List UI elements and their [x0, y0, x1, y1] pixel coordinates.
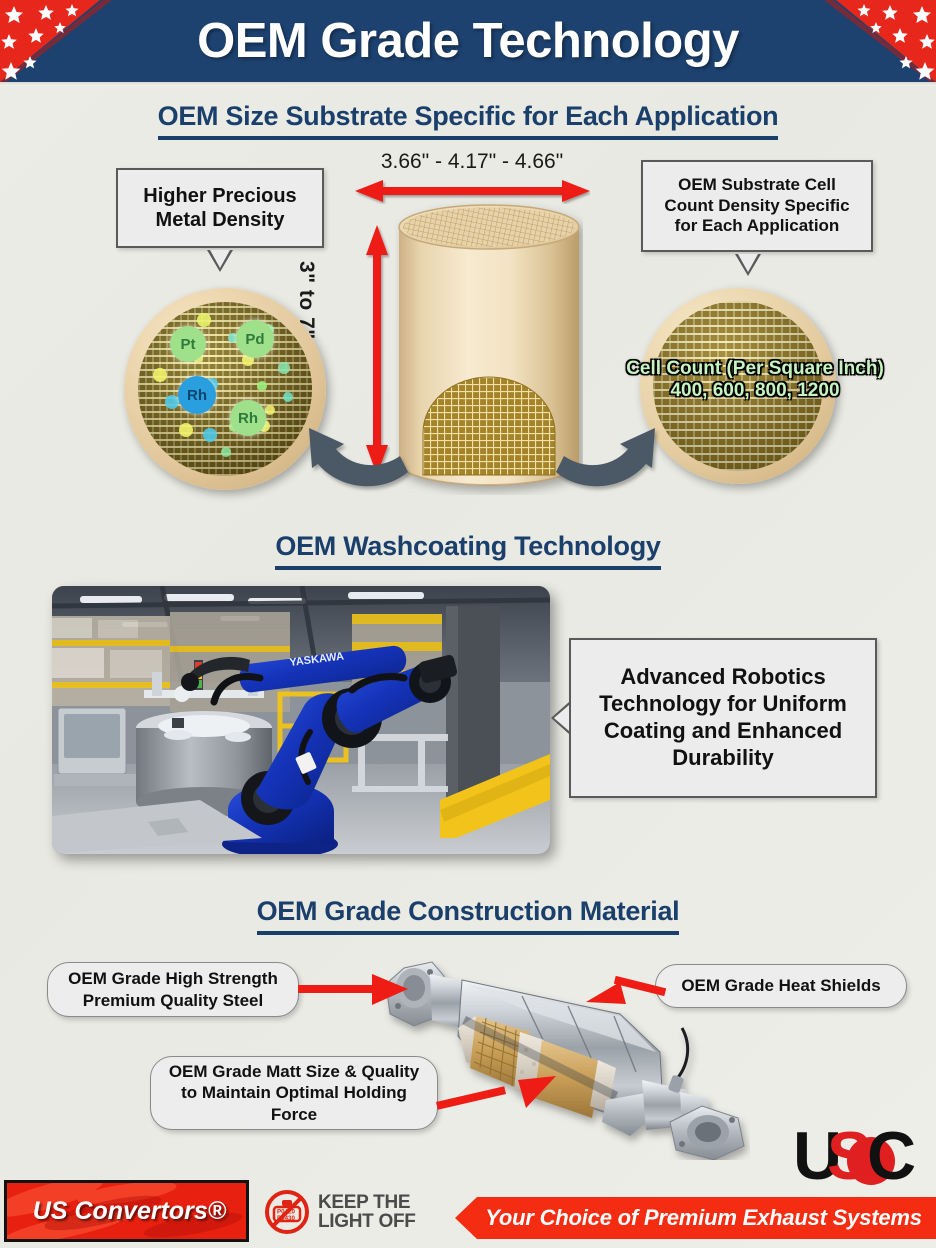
- callout-heat-shields: OEM Grade Heat Shields: [655, 964, 907, 1008]
- header-banner: OEM Grade Technology: [0, 0, 936, 82]
- section-heading-construction: OEM Grade Construction Material: [0, 896, 936, 935]
- washcoating-robot-photo: YASKAWA: [52, 586, 550, 854]
- infographic-page: OEM Grade Technology OEM Size Substrate …: [0, 0, 936, 1248]
- substrate-diameter-label: 3.66" - 4.17" - 4.66": [352, 150, 592, 174]
- logo-letter-c: C: [867, 1118, 916, 1191]
- no-check-engine-light-icon: P0420 P0430: [264, 1189, 310, 1235]
- cell-count-callout: Cell Count (Per Square Inch) 400, 600, 8…: [605, 358, 905, 402]
- keep-light-line-1: KEEP THE: [318, 1193, 416, 1212]
- tagline-text: Your Choice of Premium Exhaust Systems: [485, 1205, 922, 1231]
- callout-tail-right: [735, 254, 761, 276]
- banner-underline: [0, 82, 936, 86]
- precious-metal-rh-blue: Rh: [178, 376, 216, 414]
- callout-matt-size: OEM Grade Matt Size & Quality to Maintai…: [150, 1056, 438, 1130]
- arrow-to-matt: [436, 1066, 556, 1112]
- callout-substrate-cell-count-density: OEM Substrate Cell Count Density Specifi…: [641, 160, 873, 252]
- cell-count-values: 400, 600, 800, 1200: [605, 380, 905, 402]
- keep-light-line-2: LIGHT OFF: [318, 1212, 416, 1231]
- arrow-to-heat-shields: [586, 968, 666, 1008]
- us-convertors-wordmark: US Convertors®: [7, 1183, 249, 1239]
- section-heading-substrate: OEM Size Substrate Specific for Each App…: [0, 101, 936, 140]
- tagline-ribbon: Your Choice of Premium Exhaust Systems: [455, 1197, 936, 1239]
- section-heading-washcoating-text: OEM Washcoating Technology: [275, 531, 660, 570]
- logo-letter-s: S: [827, 1118, 872, 1191]
- curved-arrow-right: [552, 398, 682, 498]
- section-heading-construction-text: OEM Grade Construction Material: [257, 896, 680, 935]
- callout-advanced-robotics: Advanced Robotics Technology for Uniform…: [569, 638, 877, 798]
- page-title: OEM Grade Technology: [0, 0, 936, 82]
- us-convertors-logo: US Convertors®: [4, 1180, 249, 1242]
- section-heading-substrate-text: OEM Size Substrate Specific for Each App…: [158, 101, 779, 140]
- keep-the-light-off-badge: P0420 P0430 KEEP THE LIGHT OFF: [264, 1186, 434, 1238]
- usc-logo: U S C: [793, 1113, 919, 1191]
- precious-metal-rh-green: Rh: [230, 400, 266, 436]
- precious-metal-pd: Pd: [236, 320, 274, 358]
- callout-tail-left: [207, 250, 233, 272]
- precious-metal-pt: Pt: [170, 326, 206, 362]
- callout-premium-steel: OEM Grade High Strength Premium Quality …: [47, 962, 299, 1017]
- cell-count-title: Cell Count (Per Square Inch): [605, 358, 905, 380]
- arrow-to-steel: [298, 972, 408, 1008]
- callout-tail-robotics: [551, 702, 569, 734]
- curved-arrow-left: [282, 398, 412, 498]
- callout-higher-precious-metal-density: Higher Precious Metal Density: [116, 168, 324, 248]
- section-heading-washcoating: OEM Washcoating Technology: [0, 531, 936, 570]
